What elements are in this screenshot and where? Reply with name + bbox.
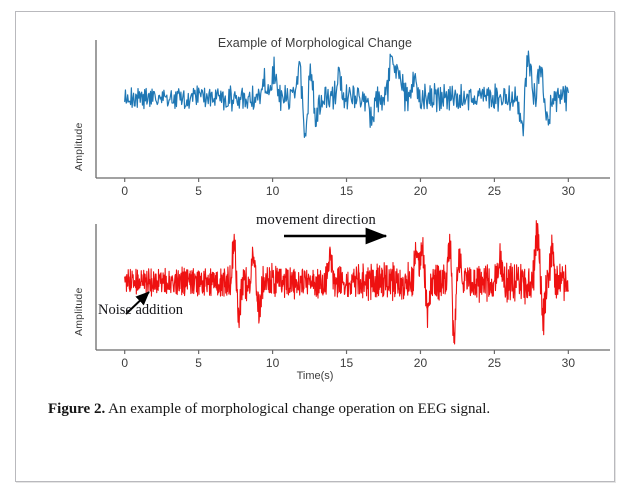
eeg-chart-augmented: 051015202530 xyxy=(16,210,614,392)
noise-addition-annotation: Noise addition xyxy=(98,302,183,319)
x-axis-tick-label: 15 xyxy=(340,356,354,370)
plot-stack: Example of Morphological Change Amplitud… xyxy=(16,12,614,392)
x-axis-tick-labels-augmented: 051015202530 xyxy=(121,356,575,370)
x-axis-tick-label: 10 xyxy=(266,356,280,370)
figure-caption-label: Figure 2. xyxy=(48,401,105,417)
figure-caption-text: An example of morphological change opera… xyxy=(105,401,490,417)
x-axis-tick-label: 30 xyxy=(562,184,576,198)
x-axis-tick-label: 10 xyxy=(266,184,280,198)
x-axis-tick-label: 15 xyxy=(340,184,354,198)
x-axis-tick-label: 0 xyxy=(121,184,128,198)
x-axis-tick-labels-original: 051015202530 xyxy=(121,184,575,198)
signal-trace-augmented xyxy=(125,221,569,344)
x-axis-tick-label: 5 xyxy=(195,356,202,370)
x-axis-tick-label: 25 xyxy=(488,184,502,198)
x-axis-tick-label: 20 xyxy=(414,184,428,198)
x-axis-label: Time(s) xyxy=(16,370,614,382)
x-axis-tick-label: 30 xyxy=(562,356,576,370)
figure-caption: Figure 2. An example of morphological ch… xyxy=(48,400,568,420)
eeg-chart-original: 051015202530 xyxy=(16,26,614,216)
plot-panel-augmented: movement direction Amplitude 0510152025 xyxy=(16,210,614,392)
axes-original xyxy=(96,40,610,178)
x-axis-tick-label: 25 xyxy=(488,356,502,370)
figure-frame: Example of Morphological Change Amplitud… xyxy=(15,11,615,482)
plot-panel-original: Example of Morphological Change Amplitud… xyxy=(16,26,614,216)
x-axis-tick-label: 0 xyxy=(121,356,128,370)
signal-trace-original xyxy=(125,51,569,137)
x-axis-tick-label: 5 xyxy=(195,184,202,198)
x-axis-tick-label: 20 xyxy=(414,356,428,370)
